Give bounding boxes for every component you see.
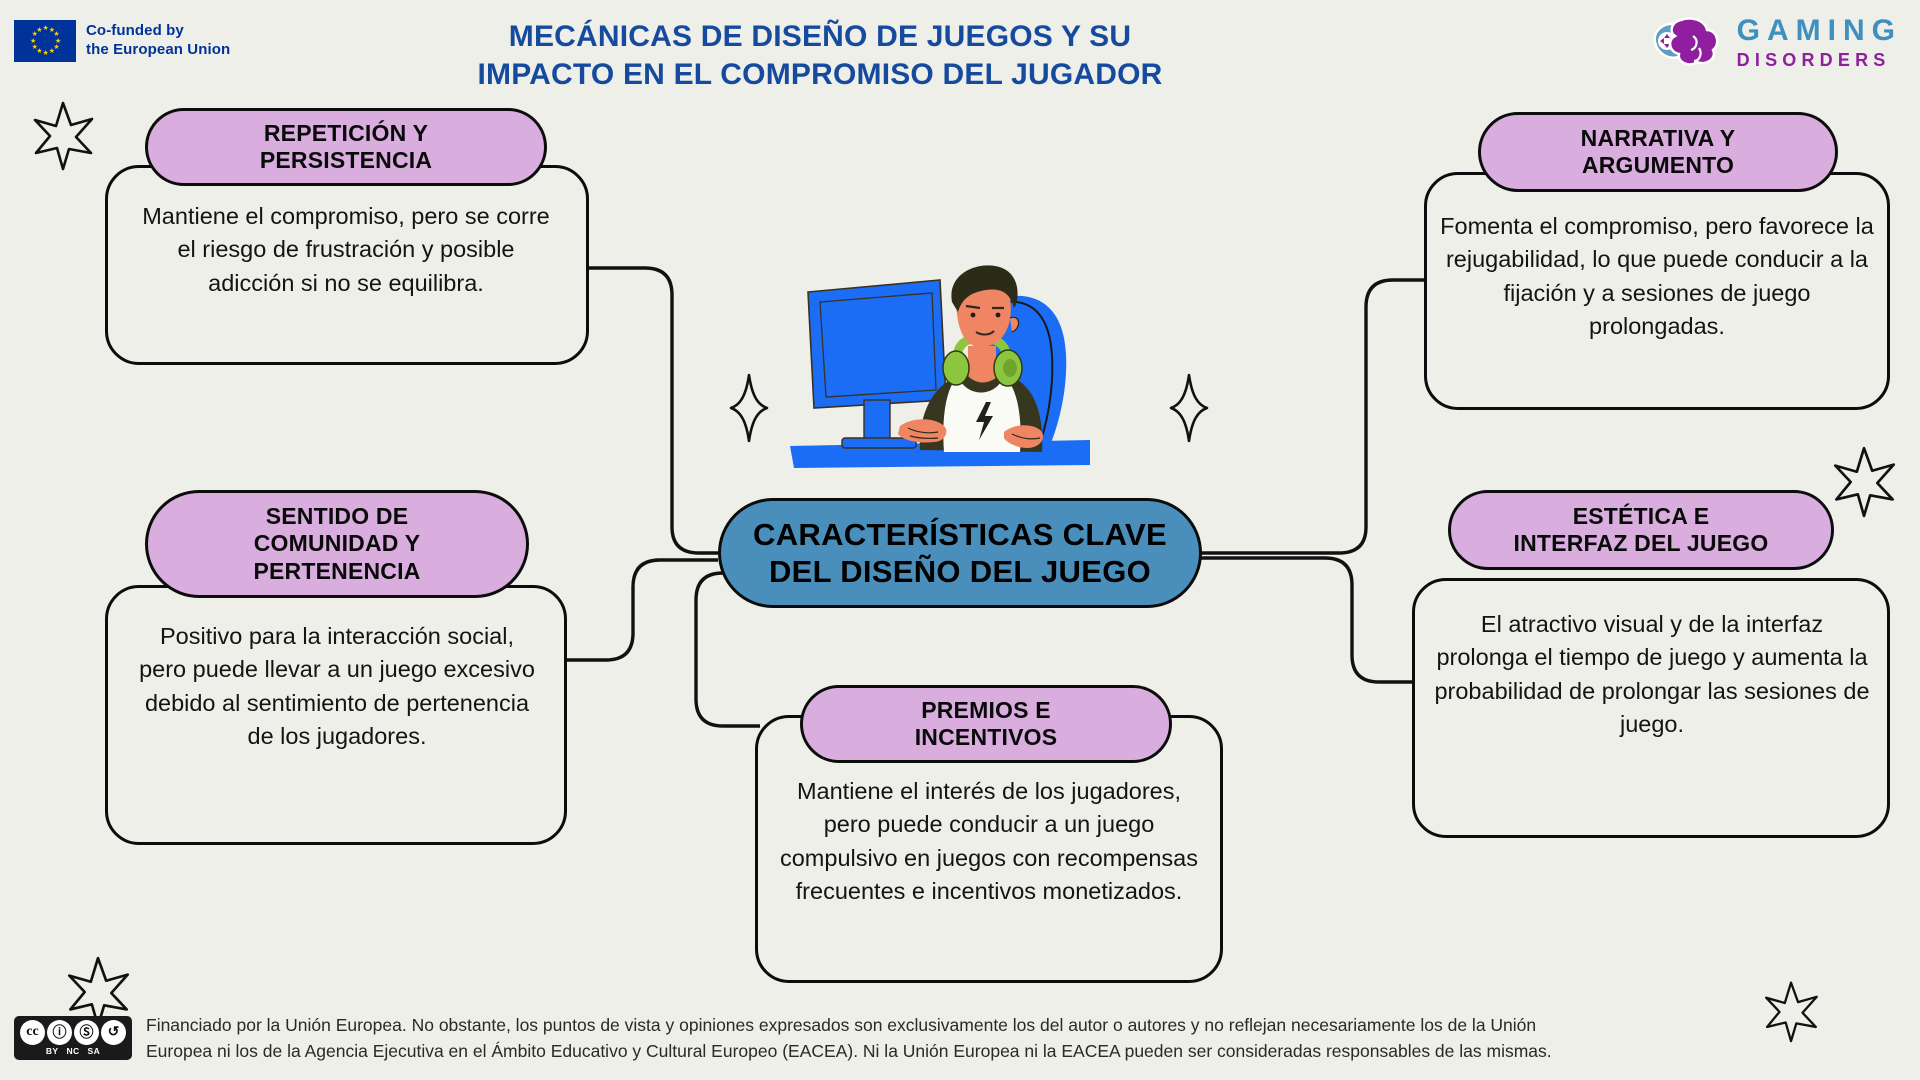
creative-commons-badge-icon: cc ⓘ Ⓢ ↺ BY NC SA — [14, 1016, 132, 1060]
center-node-line2: DEL DISEÑO DEL JUEGO — [753, 553, 1167, 590]
node-comunidad-title-line2: COMUNIDAD Y — [253, 530, 420, 557]
node-estetica-title-line2: INTERFAZ DEL JUEGO — [1514, 530, 1769, 557]
gamer-illustration — [790, 250, 1110, 480]
cc-label-row: BY NC SA — [46, 1046, 100, 1056]
cc-by-icon: ⓘ — [47, 1020, 72, 1045]
node-premios-body: Mantiene el interés de los jugadores, pe… — [772, 775, 1206, 908]
node-estetica-title[interactable]: ESTÉTICA E INTERFAZ DEL JUEGO — [1448, 490, 1834, 570]
cc-label-nc: NC — [66, 1046, 79, 1056]
node-premios-title[interactable]: PREMIOS E INCENTIVOS — [800, 685, 1172, 763]
cc-nc-icon: Ⓢ — [74, 1020, 99, 1045]
center-node-label: CARACTERÍSTICAS CLAVE DEL DISEÑO DEL JUE… — [753, 516, 1167, 590]
infographic-canvas: ★★★★★★★★★★★★ Co-funded by the European U… — [0, 0, 1920, 1080]
cc-sa-icon: ↺ — [101, 1020, 126, 1045]
node-repeticion-title-line1: REPETICIÓN Y — [260, 120, 432, 147]
center-node-line1: CARACTERÍSTICAS CLAVE — [753, 516, 1167, 553]
cc-label-by: BY — [46, 1046, 59, 1056]
connector-repeticion — [586, 268, 718, 553]
cc-icon: cc — [20, 1020, 45, 1045]
footer-line2: Europea ni los de la Agencia Ejecutiva e… — [146, 1038, 1552, 1064]
node-estetica-title-line1: ESTÉTICA E — [1514, 503, 1769, 530]
node-comunidad-title-line3: PERTENENCIA — [253, 558, 420, 585]
footer-line1: Financiado por la Unión Europea. No obst… — [146, 1012, 1552, 1038]
cc-label-sa: SA — [88, 1046, 101, 1056]
connector-narrativa — [1200, 280, 1432, 553]
footer-disclaimer: Financiado por la Unión Europea. No obst… — [146, 1012, 1552, 1065]
node-repeticion-title-line2: PERSISTENCIA — [260, 147, 432, 174]
connector-estetica — [1200, 558, 1418, 682]
node-comunidad-title-line1: SENTIDO DE — [253, 503, 420, 530]
node-comunidad-body: Positivo para la interacción social, per… — [138, 620, 536, 753]
node-premios-title-line2: INCENTIVOS — [915, 724, 1058, 751]
node-estetica-body: El atractivo visual y de la interfaz pro… — [1432, 608, 1872, 741]
node-repeticion-body: Mantiene el compromiso, pero se corre el… — [140, 200, 552, 300]
node-narrativa-body: Fomenta el compromiso, pero favorece la … — [1437, 210, 1877, 343]
node-narrativa-title-line2: ARGUMENTO — [1581, 152, 1736, 179]
node-narrativa-title[interactable]: NARRATIVA Y ARGUMENTO — [1478, 112, 1838, 192]
node-comunidad-title[interactable]: SENTIDO DE COMUNIDAD Y PERTENENCIA — [145, 490, 529, 598]
node-narrativa-title-line1: NARRATIVA Y — [1581, 125, 1736, 152]
footer: cc ⓘ Ⓢ ↺ BY NC SA Financiado por la Unió… — [14, 1012, 1904, 1065]
node-repeticion-title[interactable]: REPETICIÓN Y PERSISTENCIA — [145, 108, 547, 186]
cc-icon-row: cc ⓘ Ⓢ ↺ — [20, 1020, 126, 1045]
node-premios-title-line1: PREMIOS E — [915, 697, 1058, 724]
center-node[interactable]: CARACTERÍSTICAS CLAVE DEL DISEÑO DEL JUE… — [718, 498, 1202, 608]
